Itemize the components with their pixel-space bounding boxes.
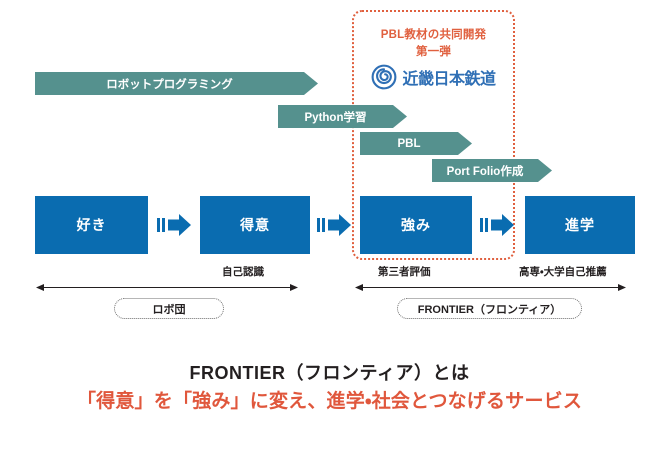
- stage-box-label: 強み: [401, 215, 431, 235]
- program-arrow-label: ロボットプログラミング: [35, 76, 304, 92]
- program-arrow-robot-programming: ロボットプログラミング: [35, 72, 318, 95]
- stage-box-label: 好き: [77, 215, 107, 235]
- measure-arrow-left-icon: [36, 283, 298, 292]
- connector-arrow-icon: [480, 214, 515, 236]
- span-label-third-party-evaluation: 第三者評価: [378, 264, 431, 279]
- program-arrow-port-folio: Port Folio作成: [432, 159, 552, 182]
- partner-logo: 近畿日本鉄道: [352, 62, 515, 92]
- kintetsu-logo-icon: [371, 64, 397, 90]
- connector-arrow-icon: [317, 214, 352, 236]
- partner-callout-title-line1: PBL教材の共同開発: [381, 29, 487, 41]
- span-label-recommendation: 高専・大学自己推薦: [519, 264, 607, 279]
- program-arrow-label: Python学習: [278, 109, 393, 125]
- partner-callout-title-line2: 第一弾: [352, 44, 515, 61]
- program-arrow-label: PBL: [360, 138, 458, 150]
- diagram-canvas: PBL教材の共同開発 第一弾 近畿日本鉄道 ロボットプログラミング Python…: [0, 0, 659, 463]
- measure-arrow-right-icon: [355, 283, 626, 292]
- program-arrow-label: Port Folio作成: [432, 163, 538, 179]
- bracket-pill-label: FRONTIER（フロンティア）: [418, 301, 562, 317]
- stage-box-label: 進学: [565, 215, 595, 235]
- bracket-pill-label: ロボ団: [153, 301, 186, 317]
- stage-box-tokui: 得意: [200, 196, 310, 254]
- stage-box-label: 得意: [240, 215, 270, 235]
- caption-line-2: 「得意」を「強み」に変え、進学・社会とつなげるサービス: [0, 387, 659, 417]
- stage-box-shingaku: 進学: [525, 196, 635, 254]
- bracket-pill-robodan: ロボ団: [114, 298, 224, 319]
- connector-arrow-icon: [157, 214, 192, 236]
- caption-line-1: FRONTIER（フロンティア）とは: [0, 360, 659, 387]
- stage-box-suki: 好き: [35, 196, 148, 254]
- bracket-pill-frontier: FRONTIER（フロンティア）: [397, 298, 582, 319]
- program-arrow-pbl: PBL: [360, 132, 472, 155]
- partner-callout-title: PBL教材の共同開発 第一弾: [352, 27, 515, 62]
- span-label-self-awareness: 自己認識: [222, 264, 264, 279]
- partner-logo-text: 近畿日本鉄道: [402, 65, 495, 89]
- program-arrow-python: Python学習: [278, 105, 407, 128]
- stage-box-tsuyomi: 強み: [360, 196, 472, 254]
- caption-block: FRONTIER（フロンティア）とは 「得意」を「強み」に変え、進学・社会とつな…: [0, 360, 659, 417]
